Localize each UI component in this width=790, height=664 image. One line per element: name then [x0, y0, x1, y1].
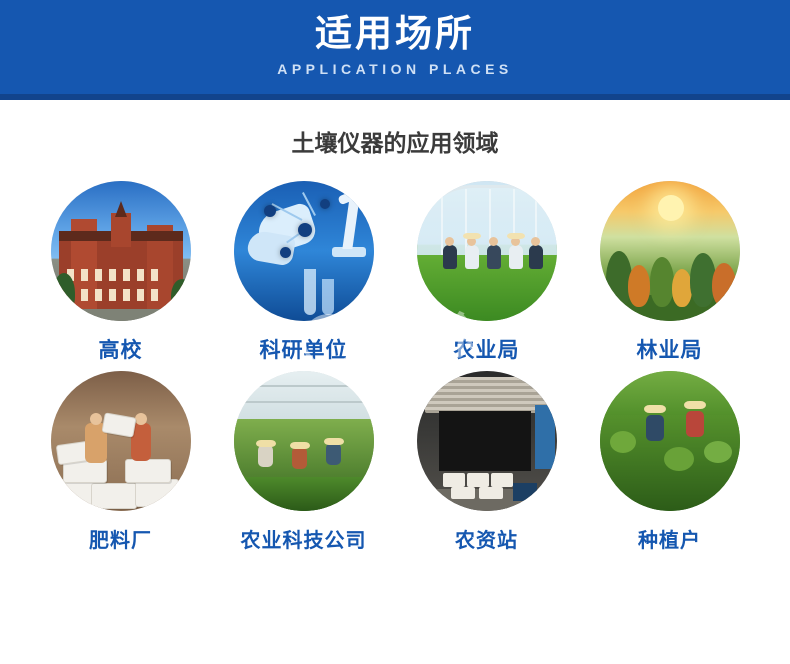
grid-cell: 科研单位 [231, 181, 376, 363]
cell-label: 农资站 [414, 527, 559, 553]
page-banner: 适用场所 APPLICATION PLACES [0, 0, 790, 100]
grid-cell: 高校 [48, 181, 193, 363]
cell-label: 肥料厂 [48, 527, 193, 553]
grid-row: 肥料厂 [0, 371, 790, 561]
application-places-page: 适用场所 APPLICATION PLACES 土壤仪器的应用领域 [0, 0, 790, 664]
section-heading: 土壤仪器的应用领域 [0, 100, 790, 159]
application-grid: 高校 [0, 159, 790, 561]
banner-subtitle: APPLICATION PLACES [0, 56, 790, 78]
cell-label: 科研单位 [231, 337, 376, 363]
grid-cell: 农资站 [414, 371, 559, 553]
greenhouse-seedlings-photo [234, 371, 374, 511]
greenhouse-inspection-photo [417, 181, 557, 321]
grid-cell: 林业局 [597, 181, 742, 363]
grid-cell: 肥料厂 [48, 371, 193, 553]
grid-cell: 种植户 [597, 371, 742, 553]
cell-label: 农业局 [414, 337, 559, 363]
crop-field-workers-photo [600, 371, 740, 511]
banner-title: 适用场所 [0, 0, 790, 56]
autumn-forest-photo [600, 181, 740, 321]
fertilizer-bags-photo [51, 371, 191, 511]
grid-cell: 农业科技公司 [231, 371, 376, 553]
cell-label: 林业局 [597, 337, 742, 363]
cell-label: 高校 [48, 337, 193, 363]
grid-row: 高校 [0, 181, 790, 371]
cell-label: 农业科技公司 [231, 527, 376, 553]
agri-supply-store-photo [417, 371, 557, 511]
university-building-photo [51, 181, 191, 321]
cell-label: 种植户 [597, 527, 742, 553]
grid-cell: 农业局 [414, 181, 559, 363]
laboratory-microscope-photo [234, 181, 374, 321]
